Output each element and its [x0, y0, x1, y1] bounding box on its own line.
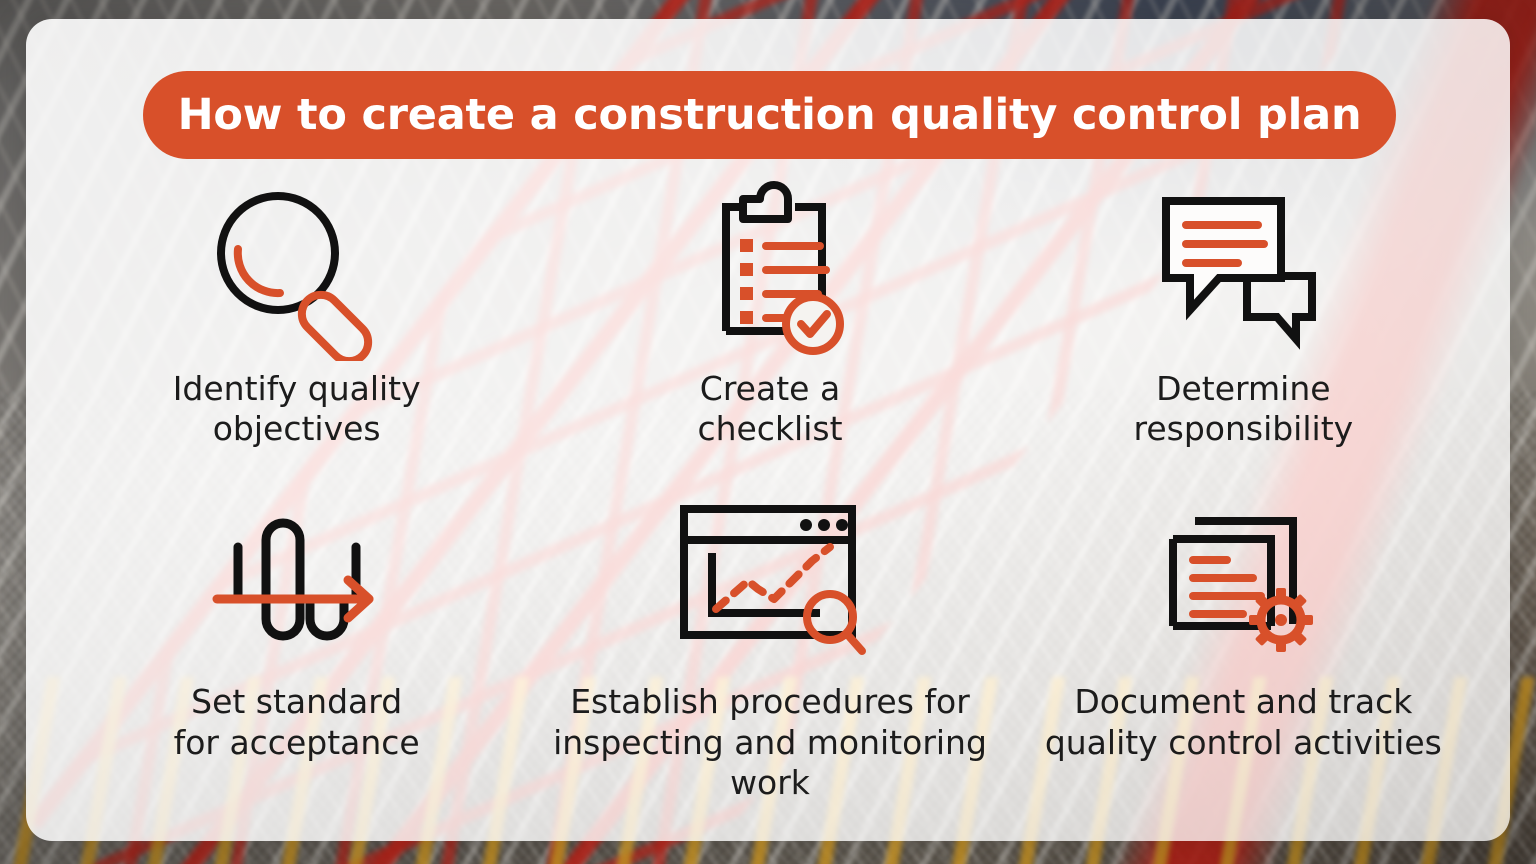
step-2-icon-wrap	[682, 178, 857, 363]
step-identify-quality-objectives: Identify quality objectives	[60, 178, 533, 488]
documents-gear-icon	[1151, 492, 1336, 662]
step-5-label: Establish procedures for inspecting and …	[533, 682, 1006, 803]
step-1-icon-wrap	[204, 178, 389, 363]
clipboard-checklist-icon	[682, 181, 857, 361]
step-6-label: Document and track quality control activ…	[1045, 682, 1442, 763]
step-create-a-checklist: Create a checklist	[533, 178, 1006, 488]
step-5-icon-wrap	[670, 488, 870, 666]
step-establish-procedures: Establish procedures for inspecting and …	[533, 488, 1006, 803]
standard-threshold-arrow-icon	[209, 495, 384, 660]
step-2-label: Create a checklist	[697, 369, 842, 450]
step-3-label: Determine responsibility	[1133, 369, 1353, 450]
step-4-icon-wrap	[209, 488, 384, 666]
step-determine-responsibility: Determine responsibility	[1007, 178, 1480, 488]
step-6-icon-wrap	[1151, 488, 1336, 666]
step-document-and-track: Document and track quality control activ…	[1007, 488, 1480, 803]
step-1-label: Identify quality objectives	[173, 369, 421, 450]
step-4-label: Set standard for acceptance	[174, 682, 420, 763]
title-banner: How to create a construction quality con…	[143, 71, 1396, 159]
step-set-standard-for-acceptance: Set standard for acceptance	[60, 488, 533, 803]
browser-chart-search-icon	[670, 495, 870, 660]
steps-grid: Identify quality objectives	[60, 178, 1480, 803]
speech-bubbles-icon	[1146, 183, 1341, 358]
page-title: How to create a construction quality con…	[178, 90, 1362, 140]
step-3-icon-wrap	[1146, 178, 1341, 363]
magnifying-glass-icon	[204, 181, 389, 361]
